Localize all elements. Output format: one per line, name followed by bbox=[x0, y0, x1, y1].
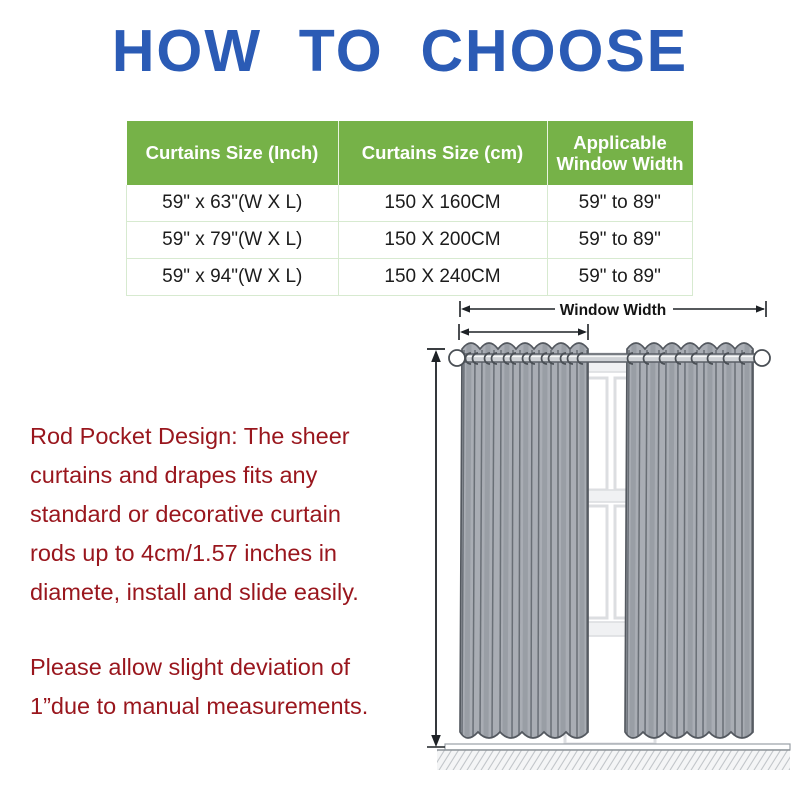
curtain-height-dimension bbox=[427, 349, 445, 747]
cell-size-cm: 150 X 240CM bbox=[338, 259, 547, 296]
cell-size-inch: 59" x 63"(W X L) bbox=[127, 185, 339, 222]
floor-hatching bbox=[437, 744, 790, 770]
size-table: Curtains Size (Inch) Curtains Size (cm) … bbox=[126, 121, 693, 296]
curtain-panel-right bbox=[620, 337, 760, 757]
rod-finial-right bbox=[754, 350, 770, 366]
cell-size-inch: 59" x 94"(W X L) bbox=[127, 259, 339, 296]
deviation-note: Please allow slight deviation of 1”due t… bbox=[30, 648, 410, 726]
cell-window-width: 59" to 89" bbox=[547, 222, 693, 259]
table-header-row: Curtains Size (Inch) Curtains Size (cm) … bbox=[127, 121, 693, 185]
column-header-line-2: Window Width bbox=[548, 153, 693, 174]
column-header-curtains-size-inch: Curtains Size (Inch) bbox=[127, 121, 339, 185]
rod-finial-left bbox=[449, 350, 465, 366]
window-width-label: Window Width bbox=[560, 302, 666, 319]
panel-width-dimension bbox=[459, 324, 588, 340]
column-header-line-1: Applicable bbox=[548, 132, 693, 153]
table-row: 59" x 79"(W X L) 150 X 200CM 59" to 89" bbox=[127, 222, 693, 259]
cell-size-inch: 59" x 79"(W X L) bbox=[127, 222, 339, 259]
table-row: 59" x 94"(W X L) 150 X 240CM 59" to 89" bbox=[127, 259, 693, 296]
page-title: HOW TO CHOOSE bbox=[0, 22, 800, 81]
column-header-curtains-size-cm: Curtains Size (cm) bbox=[338, 121, 547, 185]
column-header-applicable-window-width: Applicable Window Width bbox=[547, 121, 693, 185]
cell-size-cm: 150 X 200CM bbox=[338, 222, 547, 259]
cell-window-width: 59" to 89" bbox=[547, 185, 693, 222]
curtain-panel-left bbox=[455, 337, 595, 757]
cell-window-width: 59" to 89" bbox=[547, 259, 693, 296]
cell-size-cm: 150 X 160CM bbox=[338, 185, 547, 222]
curtain-diagram: Window Width bbox=[415, 292, 800, 792]
table-row: 59" x 63"(W X L) 150 X 160CM 59" to 89" bbox=[127, 185, 693, 222]
rod-pocket-description: Rod Pocket Design: The sheer curtains an… bbox=[30, 417, 410, 612]
